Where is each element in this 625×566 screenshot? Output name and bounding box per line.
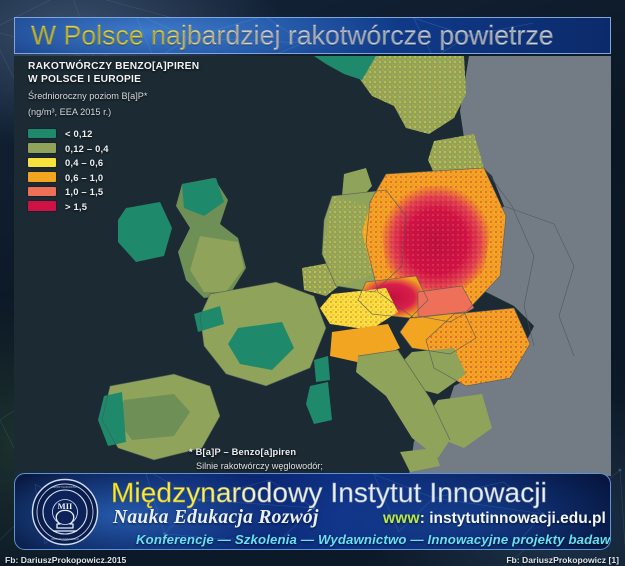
region-sardinia [306,382,332,424]
region-alps-speckle [320,288,398,330]
legend-color-swatch [28,158,56,168]
slide-title-bar: W Polsce najbardziej rakotwórcze powietr… [14,17,611,54]
legend-item: < 0,12 [28,127,243,140]
legend-subtitle-line-1: Średnioroczny poziom B[a]P* [28,90,243,102]
legend-subtitle-line-2: (ng/m³, EEA 2015 r.) [28,106,243,118]
region-scandinavia-speckle [359,56,466,134]
institute-services: Konferencje — Szkolenia — Wydawnictwo — … [136,532,611,547]
legend-item: 1,0 – 1,5 [28,185,243,198]
mii-seal-icon: MIĘDZYNARODOWY INSTYTUT INNOWACJI MII [31,478,99,546]
map-footnote: * B[a]P – Benzo[a]piren Silnie rakotwórc… [189,447,323,471]
mii-logo: MIĘDZYNARODOWY INSTYTUT INNOWACJI MII [31,478,99,546]
map-legend: RAKOTWÓRCZY BENZO[A]PIREN W POLSCE I EUR… [28,61,243,214]
legend-color-swatch [28,172,56,182]
legend-item-label: 0,12 – 0,4 [65,143,109,154]
legend-color-swatch [28,201,56,211]
legend-item: 0,6 – 1,0 [28,171,243,184]
institute-branding-bar: MIĘDZYNARODOWY INSTYTUT INNOWACJI MII Mi… [14,473,611,550]
svg-text:INSTYTUT INNOWACJI: INSTYTUT INNOWACJI [51,537,79,541]
legend-item: 0,12 – 0,4 [28,142,243,155]
website-www-prefix: www [383,510,420,527]
footnote-line-2: Silnie rakotwórczy węglowodór; [196,461,323,471]
legend-scale: < 0,12 0,12 – 0,4 0,4 – 0,6 0,6 – 1,0 1,… [28,127,243,213]
legend-color-swatch [28,187,56,197]
region-corsica [314,356,330,382]
svg-text:MIĘDZYNARODOWY: MIĘDZYNARODOWY [52,485,78,489]
institute-website[interactable]: www: instytutinnowacji.edu.pl [383,510,606,528]
credit-left: Fb: DariuszProkopowicz.2015 [5,555,126,565]
institute-name: Międzynarodowy Instytut Innowacji [111,477,547,509]
legend-item-label: 0,4 – 0,6 [65,157,103,168]
legend-title-line-2: W POLSCE I EUROPIE [28,74,243,87]
legend-color-swatch [28,129,56,139]
legend-item-label: > 1,5 [65,201,87,212]
legend-title-line-1: RAKOTWÓRCZY BENZO[A]PIREN [28,61,243,74]
legend-item-label: 0,6 – 1,0 [65,172,103,183]
legend-item: > 1,5 [28,200,243,213]
footnote-line-1: * B[a]P – Benzo[a]piren [189,447,323,457]
institute-motto: Nauka Edukacja Rozwój [113,507,319,529]
slide-canvas: W Polsce najbardziej rakotwórcze powietr… [0,0,625,566]
legend-item-label: < 0,12 [65,128,93,139]
website-url: : instytutinnowacji.edu.pl [420,510,606,527]
credit-right: Fb: DariuszProkopowicz [1] [506,555,619,565]
legend-color-swatch [28,143,56,153]
branding-text-block: Międzynarodowy Instytut Innowacji Nauka … [111,474,602,549]
legend-item-label: 1,0 – 1,5 [65,186,103,197]
legend-item: 0,4 – 0,6 [28,156,243,169]
page-title: W Polsce najbardziej rakotwórcze powietr… [31,20,554,51]
benzoapyrene-map: RAKOTWÓRCZY BENZO[A]PIREN W POLSCE I EUR… [14,56,611,476]
svg-text:MII: MII [58,501,73,511]
